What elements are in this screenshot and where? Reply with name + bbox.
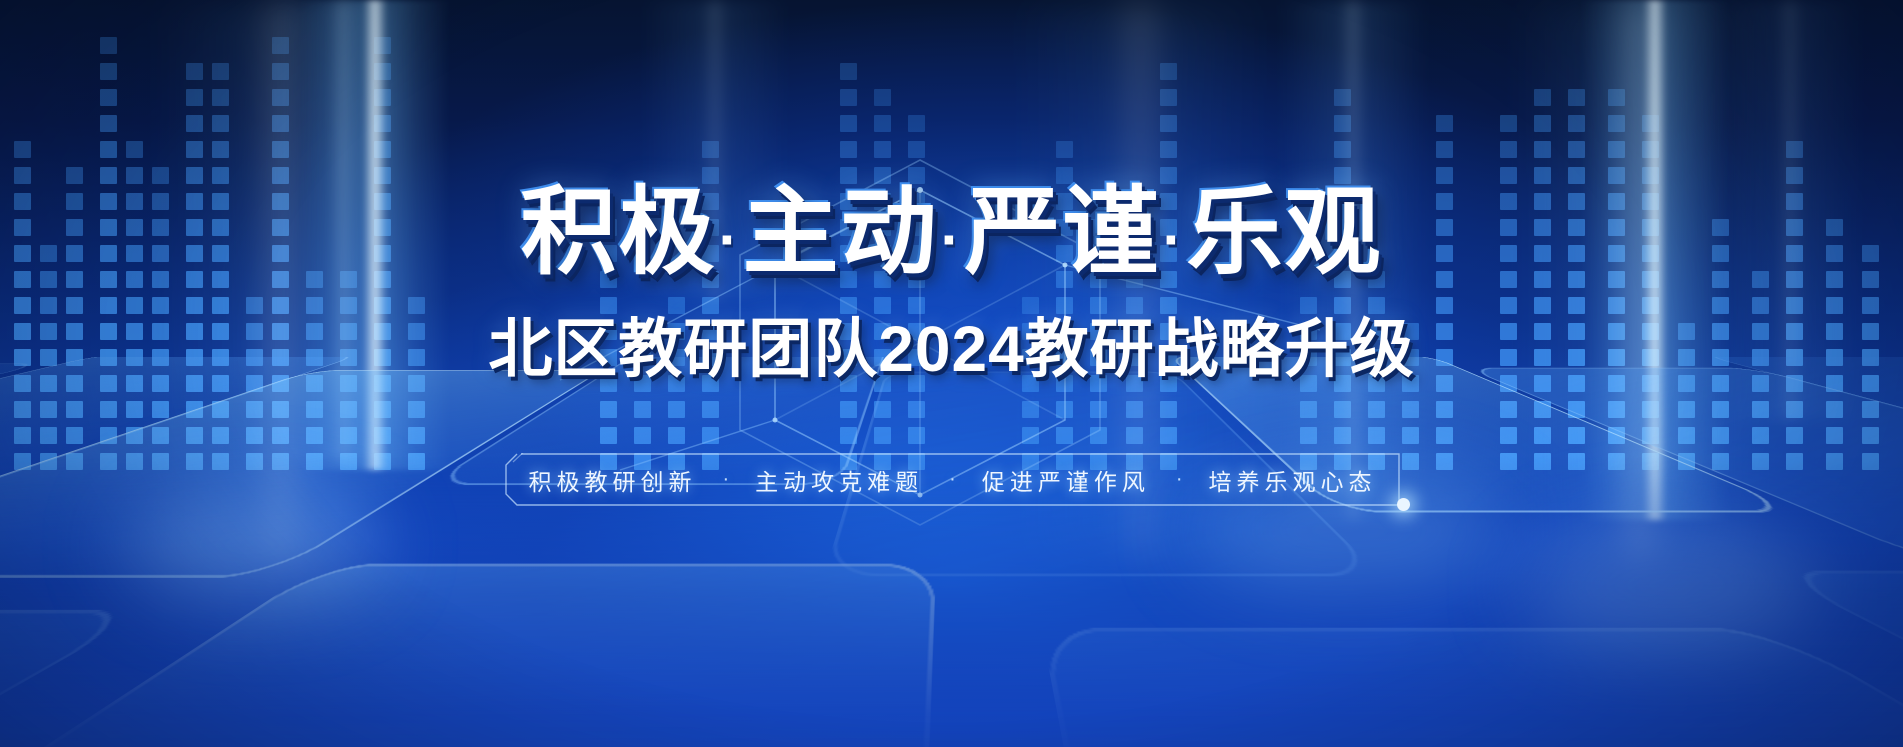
tagline-item-1: 积极教研创新 xyxy=(528,463,696,497)
title-word-3: 严谨 xyxy=(964,179,1160,286)
title-separator-icon: · xyxy=(719,206,741,273)
tagline-separator-icon: · xyxy=(722,468,729,491)
page-title: 积极·主动·严谨·乐观 xyxy=(0,185,1903,281)
title-separator-icon: · xyxy=(941,206,963,273)
banner-content: 积极·主动·严谨·乐观 北区教研团队2024教研战略升级 积极教研创新 · 主动… xyxy=(0,0,1903,747)
banner-stage: 积极·主动·严谨·乐观 北区教研团队2024教研战略升级 积极教研创新 · 主动… xyxy=(0,0,1903,747)
title-word-2: 主动 xyxy=(743,179,939,286)
tagline-box: 积极教研创新 · 主动攻克难题 · 促进严谨作风 · 培养乐观心态 xyxy=(505,453,1400,506)
title-word-4: 乐观 xyxy=(1186,179,1382,286)
title-word-1: 积极 xyxy=(521,179,717,286)
tagline-item-2: 主动攻克难题 xyxy=(755,463,923,497)
tagline-item-3: 促进严谨作风 xyxy=(982,463,1150,497)
tagline-item-4: 培养乐观心态 xyxy=(1209,463,1377,497)
tagline-separator-icon: · xyxy=(1176,468,1183,491)
spark-dot-icon xyxy=(1397,498,1410,511)
tagline-text: 积极教研创新 · 主动攻克难题 · 促进严谨作风 · 培养乐观心态 xyxy=(505,453,1400,506)
title-separator-icon: · xyxy=(1162,206,1184,273)
tagline-separator-icon: · xyxy=(949,468,956,491)
page-subtitle: 北区教研团队2024教研战略升级 xyxy=(0,317,1903,381)
